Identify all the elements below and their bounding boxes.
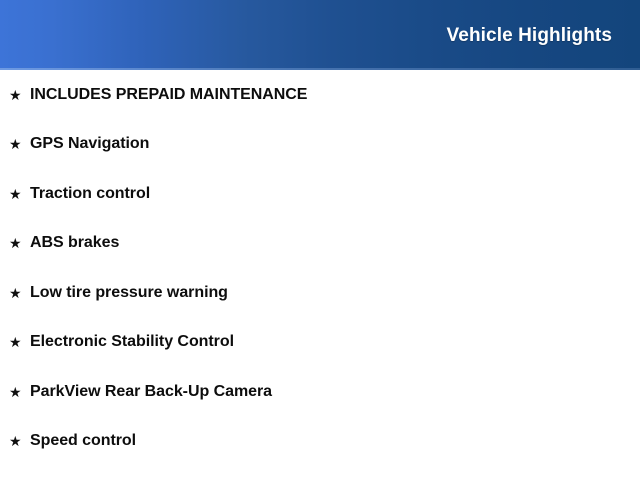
header-banner: Vehicle Highlights: [0, 0, 640, 70]
list-item: ★ Speed control: [0, 417, 640, 467]
star-bullet-icon: ★: [9, 286, 30, 300]
page-title: Vehicle Highlights: [447, 26, 612, 45]
star-bullet-icon: ★: [9, 335, 30, 349]
list-item: ★ ParkView Rear Back-Up Camera: [0, 367, 640, 417]
star-bullet-icon: ★: [9, 236, 30, 250]
list-item-label: Speed control: [30, 432, 640, 450]
list-item-label: ParkView Rear Back-Up Camera: [30, 383, 640, 401]
vehicle-highlights-list: ★ INCLUDES PREPAID MAINTENANCE ★ GPS Nav…: [0, 70, 640, 466]
vehicle-highlights-panel: Vehicle Highlights ★ INCLUDES PREPAID MA…: [0, 0, 640, 480]
list-item-label: ABS brakes: [30, 234, 640, 252]
list-item-label: Low tire pressure warning: [30, 284, 640, 302]
list-item: ★ Electronic Stability Control: [0, 318, 640, 368]
list-item: ★ Traction control: [0, 169, 640, 219]
star-bullet-icon: ★: [9, 385, 30, 399]
list-item-label: GPS Navigation: [30, 135, 640, 153]
list-item: ★ ABS brakes: [0, 219, 640, 269]
list-item-label: INCLUDES PREPAID MAINTENANCE: [30, 86, 640, 104]
star-bullet-icon: ★: [9, 137, 30, 151]
list-item: ★ Low tire pressure warning: [0, 268, 640, 318]
list-item-label: Electronic Stability Control: [30, 333, 640, 351]
list-item: ★ INCLUDES PREPAID MAINTENANCE: [0, 70, 640, 120]
star-bullet-icon: ★: [9, 434, 30, 448]
list-item: ★ GPS Navigation: [0, 120, 640, 170]
list-item-label: Traction control: [30, 185, 640, 203]
star-bullet-icon: ★: [9, 88, 30, 102]
star-bullet-icon: ★: [9, 187, 30, 201]
